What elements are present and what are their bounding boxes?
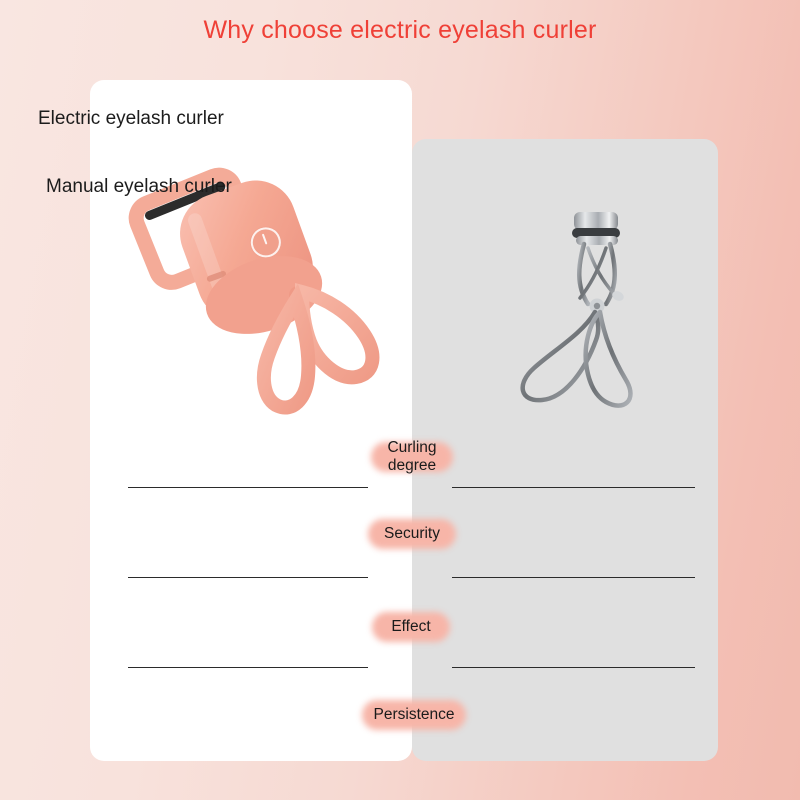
divider-left-0 xyxy=(128,487,368,488)
electric-card-heading: Electric eyelash curler xyxy=(38,108,224,130)
divider-left-1 xyxy=(128,577,368,578)
divider-right-0 xyxy=(452,487,695,488)
electric-eyelash-curler-photo xyxy=(112,162,402,420)
criterion-badge-curling-degree: Curling degree xyxy=(372,434,452,480)
divider-right-1 xyxy=(452,577,695,578)
criterion-badge-security: Security xyxy=(368,521,456,547)
manual-eyelash-curler-photo xyxy=(492,200,682,422)
divider-left-2 xyxy=(128,667,368,668)
infographic-canvas: Why choose electric eyelash curler Elect… xyxy=(0,0,800,800)
criterion-badge-persistence: Persistence xyxy=(362,702,466,728)
manual-card-heading: Manual eyelash curler xyxy=(46,176,232,198)
criterion-badge-effect: Effect xyxy=(374,614,448,640)
divider-right-2 xyxy=(452,667,695,668)
page-title: Why choose electric eyelash curler xyxy=(0,16,800,45)
